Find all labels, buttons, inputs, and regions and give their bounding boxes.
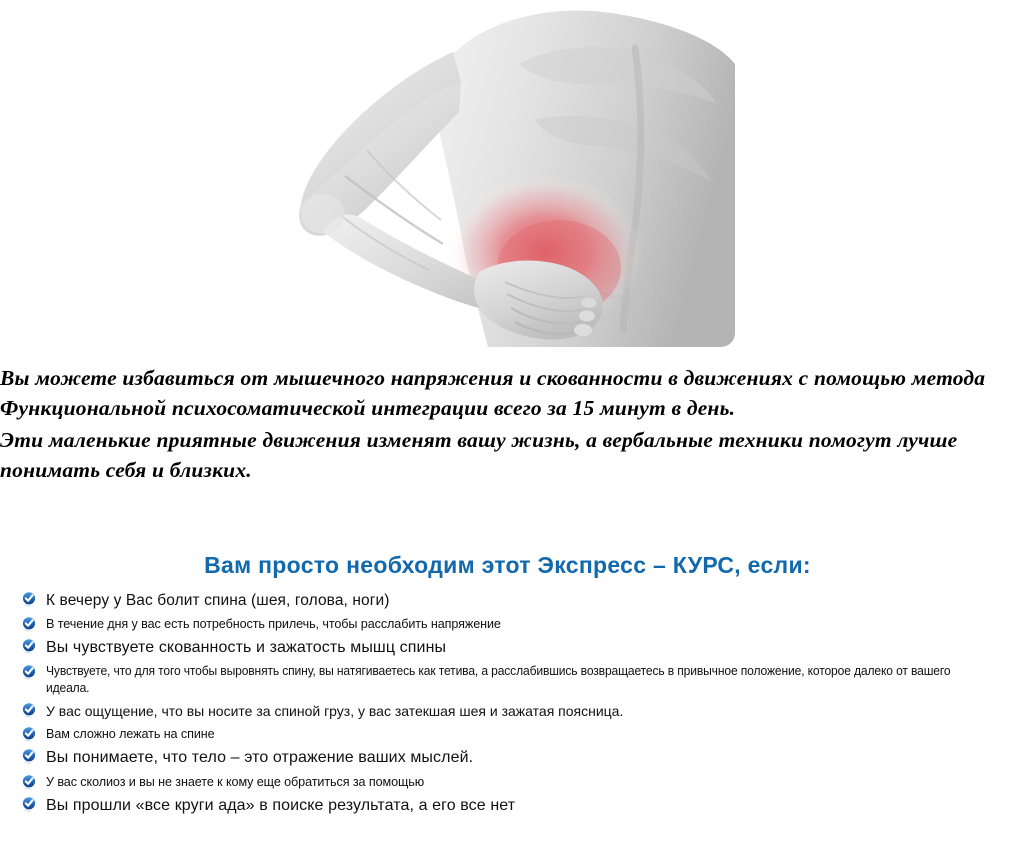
list-item: Вы чувствуете скованность и зажатость мы…	[22, 637, 1012, 659]
list-item: Вы понимаете, что тело – это отражение в…	[22, 747, 1012, 769]
benefits-checklist: К вечеру у Вас болит спина (шея, голова,…	[22, 590, 1012, 821]
blue-check-badge-icon	[22, 797, 37, 814]
blue-check-badge-icon	[22, 727, 37, 744]
hero-image	[283, 0, 735, 347]
list-item: У вас сколиоз и вы не знаете к кому еще …	[22, 773, 1012, 791]
list-item-label: Вы прошли «все круги ада» в поиске резул…	[46, 795, 1012, 817]
list-item-label: Вы чувствуете скованность и зажатость мы…	[46, 637, 1012, 659]
list-item-label: К вечеру у Вас болит спина (шея, голова,…	[46, 590, 1012, 611]
list-item: У вас ощущение, что вы носите за спиной …	[22, 701, 1012, 721]
blue-check-badge-icon	[22, 665, 37, 682]
back-pain-illustration	[283, 0, 735, 347]
list-item-label: У вас ощущение, что вы носите за спиной …	[46, 701, 1012, 721]
blue-check-badge-icon	[22, 592, 37, 609]
intro-paragraph-1: Вы можете избавиться от мышечного напряж…	[0, 363, 1015, 423]
list-item-label: У вас сколиоз и вы не знаете к кому еще …	[46, 773, 983, 791]
intro-paragraphs: Вы можете избавиться от мышечного напряж…	[0, 363, 1015, 485]
list-item: Вы прошли «все круги ада» в поиске резул…	[22, 795, 1012, 817]
list-item-label: Чувствуете, что для того чтобы выровнять…	[46, 663, 973, 697]
list-item: В течение дня у вас есть потребность при…	[22, 615, 1012, 633]
list-item: Вам сложно лежать на спине	[22, 725, 1012, 743]
page-headline: Вам просто необходим этот Экспресс – КУР…	[0, 552, 1015, 579]
blue-check-badge-icon	[22, 639, 37, 656]
blue-check-badge-icon	[22, 749, 37, 766]
list-item: К вечеру у Вас болит спина (шея, голова,…	[22, 590, 1012, 611]
blue-check-badge-icon	[22, 703, 37, 720]
blue-check-badge-icon	[22, 617, 37, 634]
intro-paragraph-2: Эти маленькие приятные движения изменят …	[0, 425, 1015, 485]
blue-check-badge-icon	[22, 775, 37, 792]
list-item-label: Вы понимаете, что тело – это отражение в…	[46, 747, 1012, 769]
list-item-label: Вам сложно лежать на спине	[46, 725, 983, 743]
list-item: Чувствуете, что для того чтобы выровнять…	[22, 663, 1012, 697]
list-item-label: В течение дня у вас есть потребность при…	[46, 615, 983, 633]
